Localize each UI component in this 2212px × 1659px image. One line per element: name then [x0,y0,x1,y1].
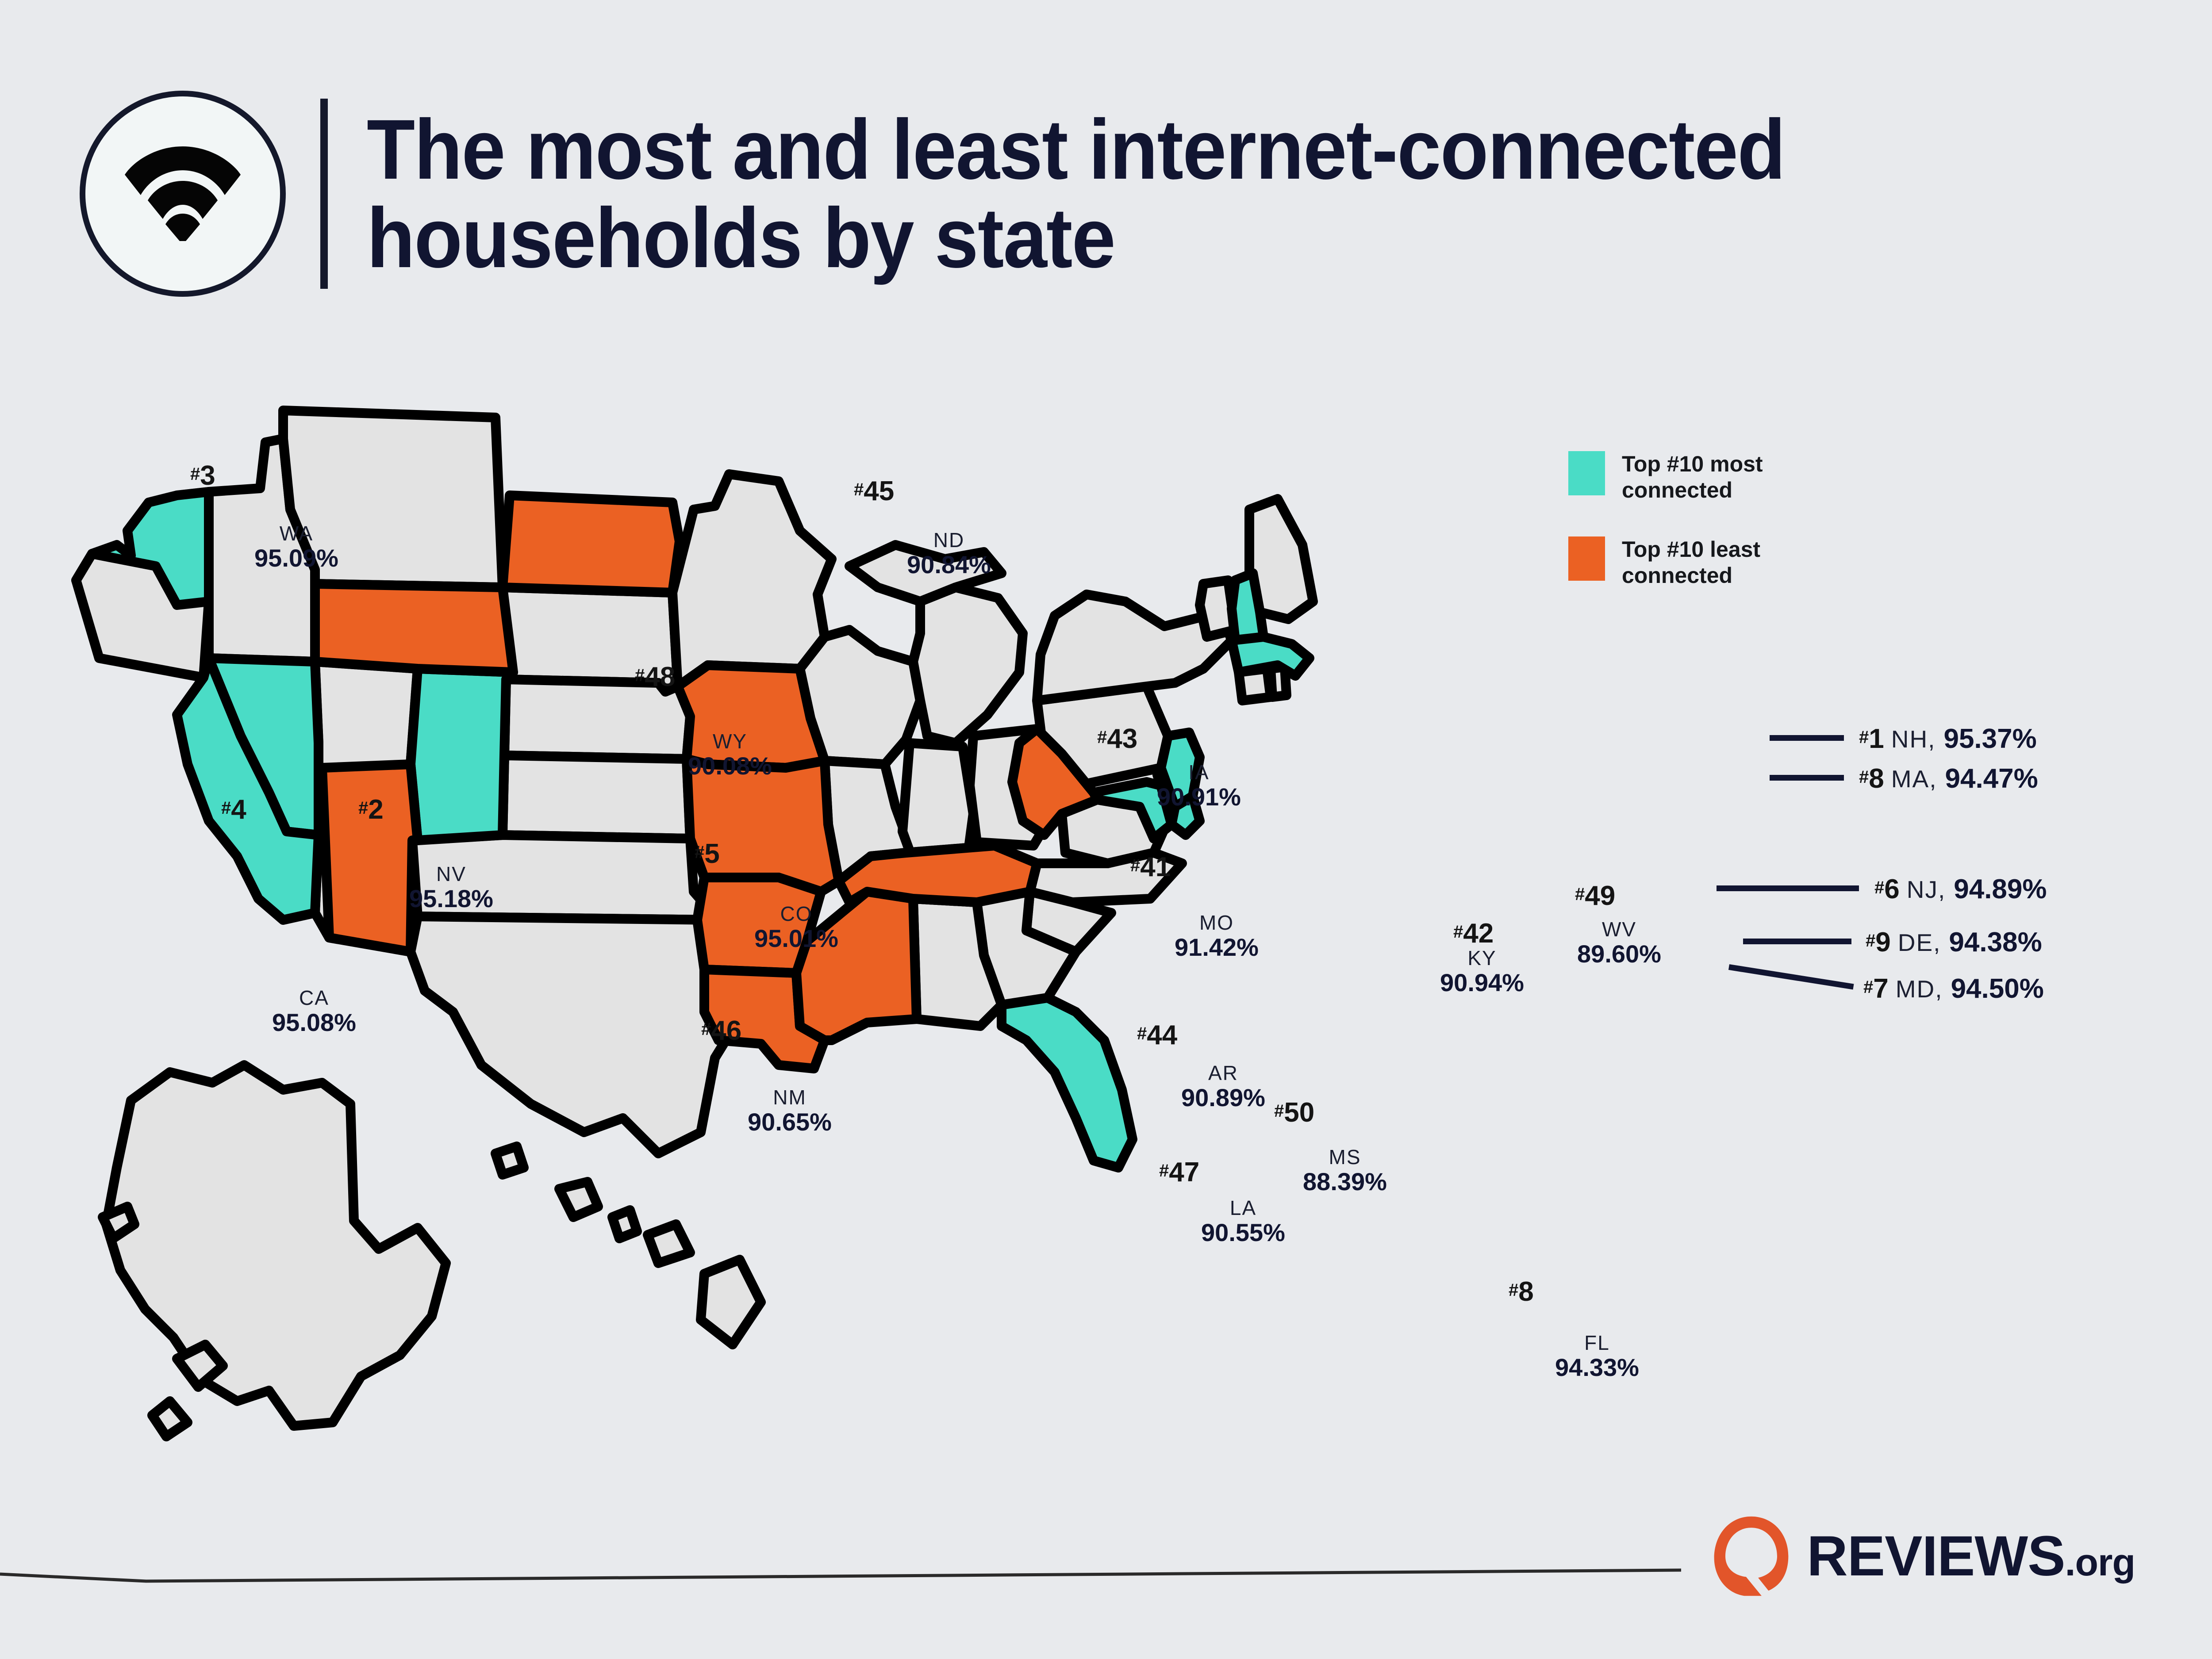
us-choropleth-map [0,389,1770,1495]
callout-abbr-DE: DE, [1898,928,1941,957]
q-logo-icon [1708,1513,1794,1599]
callout-pct-MA: 94.47% [1945,763,2038,794]
callout-abbr-MA: MA, [1891,765,1937,793]
state-TX [411,916,743,1153]
callout-abbr-NH: NH, [1891,725,1936,753]
state-IA [678,665,825,768]
brand-tld: .org [2065,1541,2135,1584]
legend: Top #10 most connected Top #10 least con… [1568,451,1768,622]
callout-leader-DE [1743,939,1851,944]
wifi-signal-icon [80,91,286,297]
legend-label-least-connected: Top #10 least connected [1622,536,1768,589]
state-MA [1232,637,1310,676]
state-WY [315,584,513,672]
brand-wordmark: REVIEWS.org [1807,1528,2135,1585]
state-NH [1232,573,1263,640]
state-KS [503,755,690,839]
state-AK [106,1065,446,1426]
callout-leader-NH [1770,735,1844,741]
callout-pct-NJ: 94.89% [1954,874,2047,905]
callout-leader-MA [1770,775,1844,781]
state-FL [1002,998,1133,1168]
brand-name: REVIEWS [1807,1525,2065,1588]
callout-NH: #1 NH, 95.37% [1849,723,2037,755]
page-title: The most and least internet-connected ho… [367,105,1785,282]
state-NE [504,679,690,759]
state-OK [412,835,715,920]
state-DE [1171,796,1200,835]
callout-pct-DE: 94.38% [1949,927,2042,958]
callout-NJ: #6 NJ, 94.89% [1865,874,2047,905]
callout-rank-NJ: #6 [1874,874,1900,905]
legend-item-least: Top #10 least connected [1568,536,1768,589]
callout-abbr-NJ: NJ, [1907,875,1946,904]
state-NM [322,764,418,952]
callout-rank-DE: #9 [1866,927,1891,958]
callout-MA: #8 MA, 94.47% [1849,763,2038,794]
callout-rank-NH: #1 [1859,723,1884,755]
state-MT [283,410,503,587]
callout-pct-MD: 94.50% [1951,973,2044,1004]
callout-DE: #9 DE, 94.38% [1856,927,2042,958]
footer-divider-line [0,1568,1681,1586]
state-MO [687,759,839,892]
callout-rank-MA: #8 [1859,763,1884,794]
legend-label-most-connected: Top #10 most connected [1622,451,1768,503]
state-KY [839,846,1037,902]
state-CO [411,669,513,840]
state-ND [503,495,680,593]
state-HI [495,1146,761,1345]
callout-rank-MD: #7 [1863,973,1889,1004]
state-MI [913,587,1023,743]
header: The most and least internet-connected ho… [80,91,1892,297]
callout-abbr-MD: MD, [1896,975,1943,1003]
callout-pct-NH: 95.37% [1943,723,2036,755]
brand-logo: REVIEWS.org [1708,1513,2135,1599]
legend-swatch-least-connected [1568,536,1605,581]
legend-item-most: Top #10 most connected [1568,451,1768,503]
callout-leader-NJ [1717,885,1859,891]
legend-swatch-most-connected [1568,451,1605,495]
title-divider [320,99,328,289]
callout-MD: #7 MD, 94.50% [1854,973,2044,1004]
